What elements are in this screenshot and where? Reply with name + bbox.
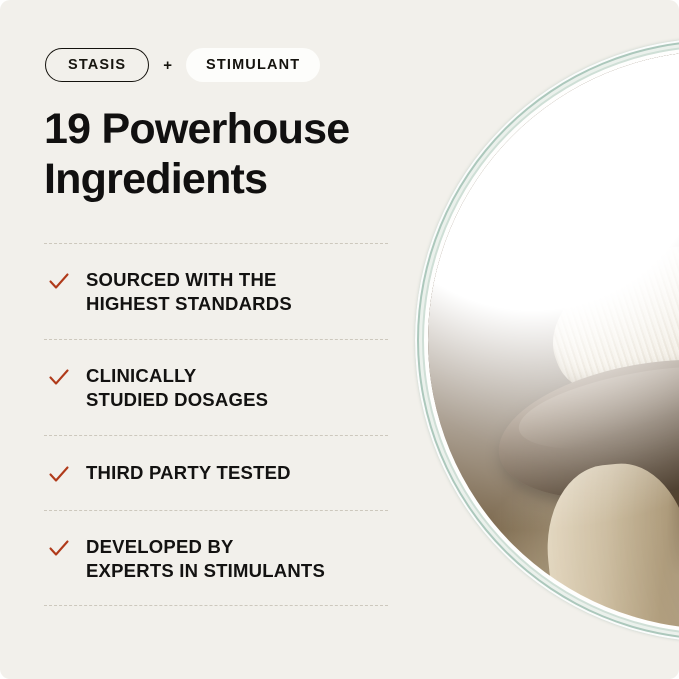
page-title: 19 Powerhouse Ingredients bbox=[44, 104, 414, 205]
check-icon bbox=[48, 538, 70, 560]
feature-3-line-1: THIRD PARTY TESTED bbox=[86, 462, 291, 483]
list-item-label: SOURCED WITH THE HIGHEST STANDARDS bbox=[86, 268, 292, 317]
feature-list: SOURCED WITH THE HIGHEST STANDARDS CLINI… bbox=[44, 243, 388, 606]
badge-stasis[interactable]: STASIS bbox=[45, 48, 149, 82]
card-content: STASIS + STIMULANT 19 Powerhouse Ingredi… bbox=[0, 0, 420, 679]
list-item: DEVELOPED BY EXPERTS IN STIMULANTS bbox=[44, 511, 388, 606]
list-item: CLINICALLY STUDIED DOSAGES bbox=[44, 340, 388, 435]
divider bbox=[44, 605, 388, 606]
feature-4-line-2: EXPERTS IN STIMULANTS bbox=[86, 560, 325, 581]
feature-2-line-2: STUDIED DOSAGES bbox=[86, 389, 268, 410]
list-item-label: DEVELOPED BY EXPERTS IN STIMULANTS bbox=[86, 535, 325, 584]
feature-1-line-1: SOURCED WITH THE bbox=[86, 269, 277, 290]
check-icon bbox=[48, 367, 70, 389]
feature-2-line-1: CLINICALLY bbox=[86, 365, 196, 386]
list-item: THIRD PARTY TESTED bbox=[44, 436, 388, 510]
check-icon bbox=[48, 464, 70, 486]
mushroom-photo bbox=[428, 51, 679, 629]
badge-separator: + bbox=[163, 57, 172, 74]
petri-dish-interior bbox=[428, 51, 679, 629]
list-item-label: THIRD PARTY TESTED bbox=[86, 461, 291, 485]
petri-dish-image bbox=[415, 38, 679, 642]
badge-row: STASIS + STIMULANT bbox=[45, 48, 320, 82]
list-item: SOURCED WITH THE HIGHEST STANDARDS bbox=[44, 244, 388, 339]
badge-stimulant[interactable]: STIMULANT bbox=[186, 48, 320, 82]
ingredient-highlight-card: STASIS + STIMULANT 19 Powerhouse Ingredi… bbox=[0, 0, 679, 679]
list-item-label: CLINICALLY STUDIED DOSAGES bbox=[86, 364, 268, 413]
headline-line-2: Ingredients bbox=[44, 155, 267, 203]
headline-line-1: 19 Powerhouse bbox=[44, 105, 349, 153]
check-icon bbox=[48, 271, 70, 293]
feature-1-line-2: HIGHEST STANDARDS bbox=[86, 293, 292, 314]
feature-4-line-1: DEVELOPED BY bbox=[86, 536, 234, 557]
